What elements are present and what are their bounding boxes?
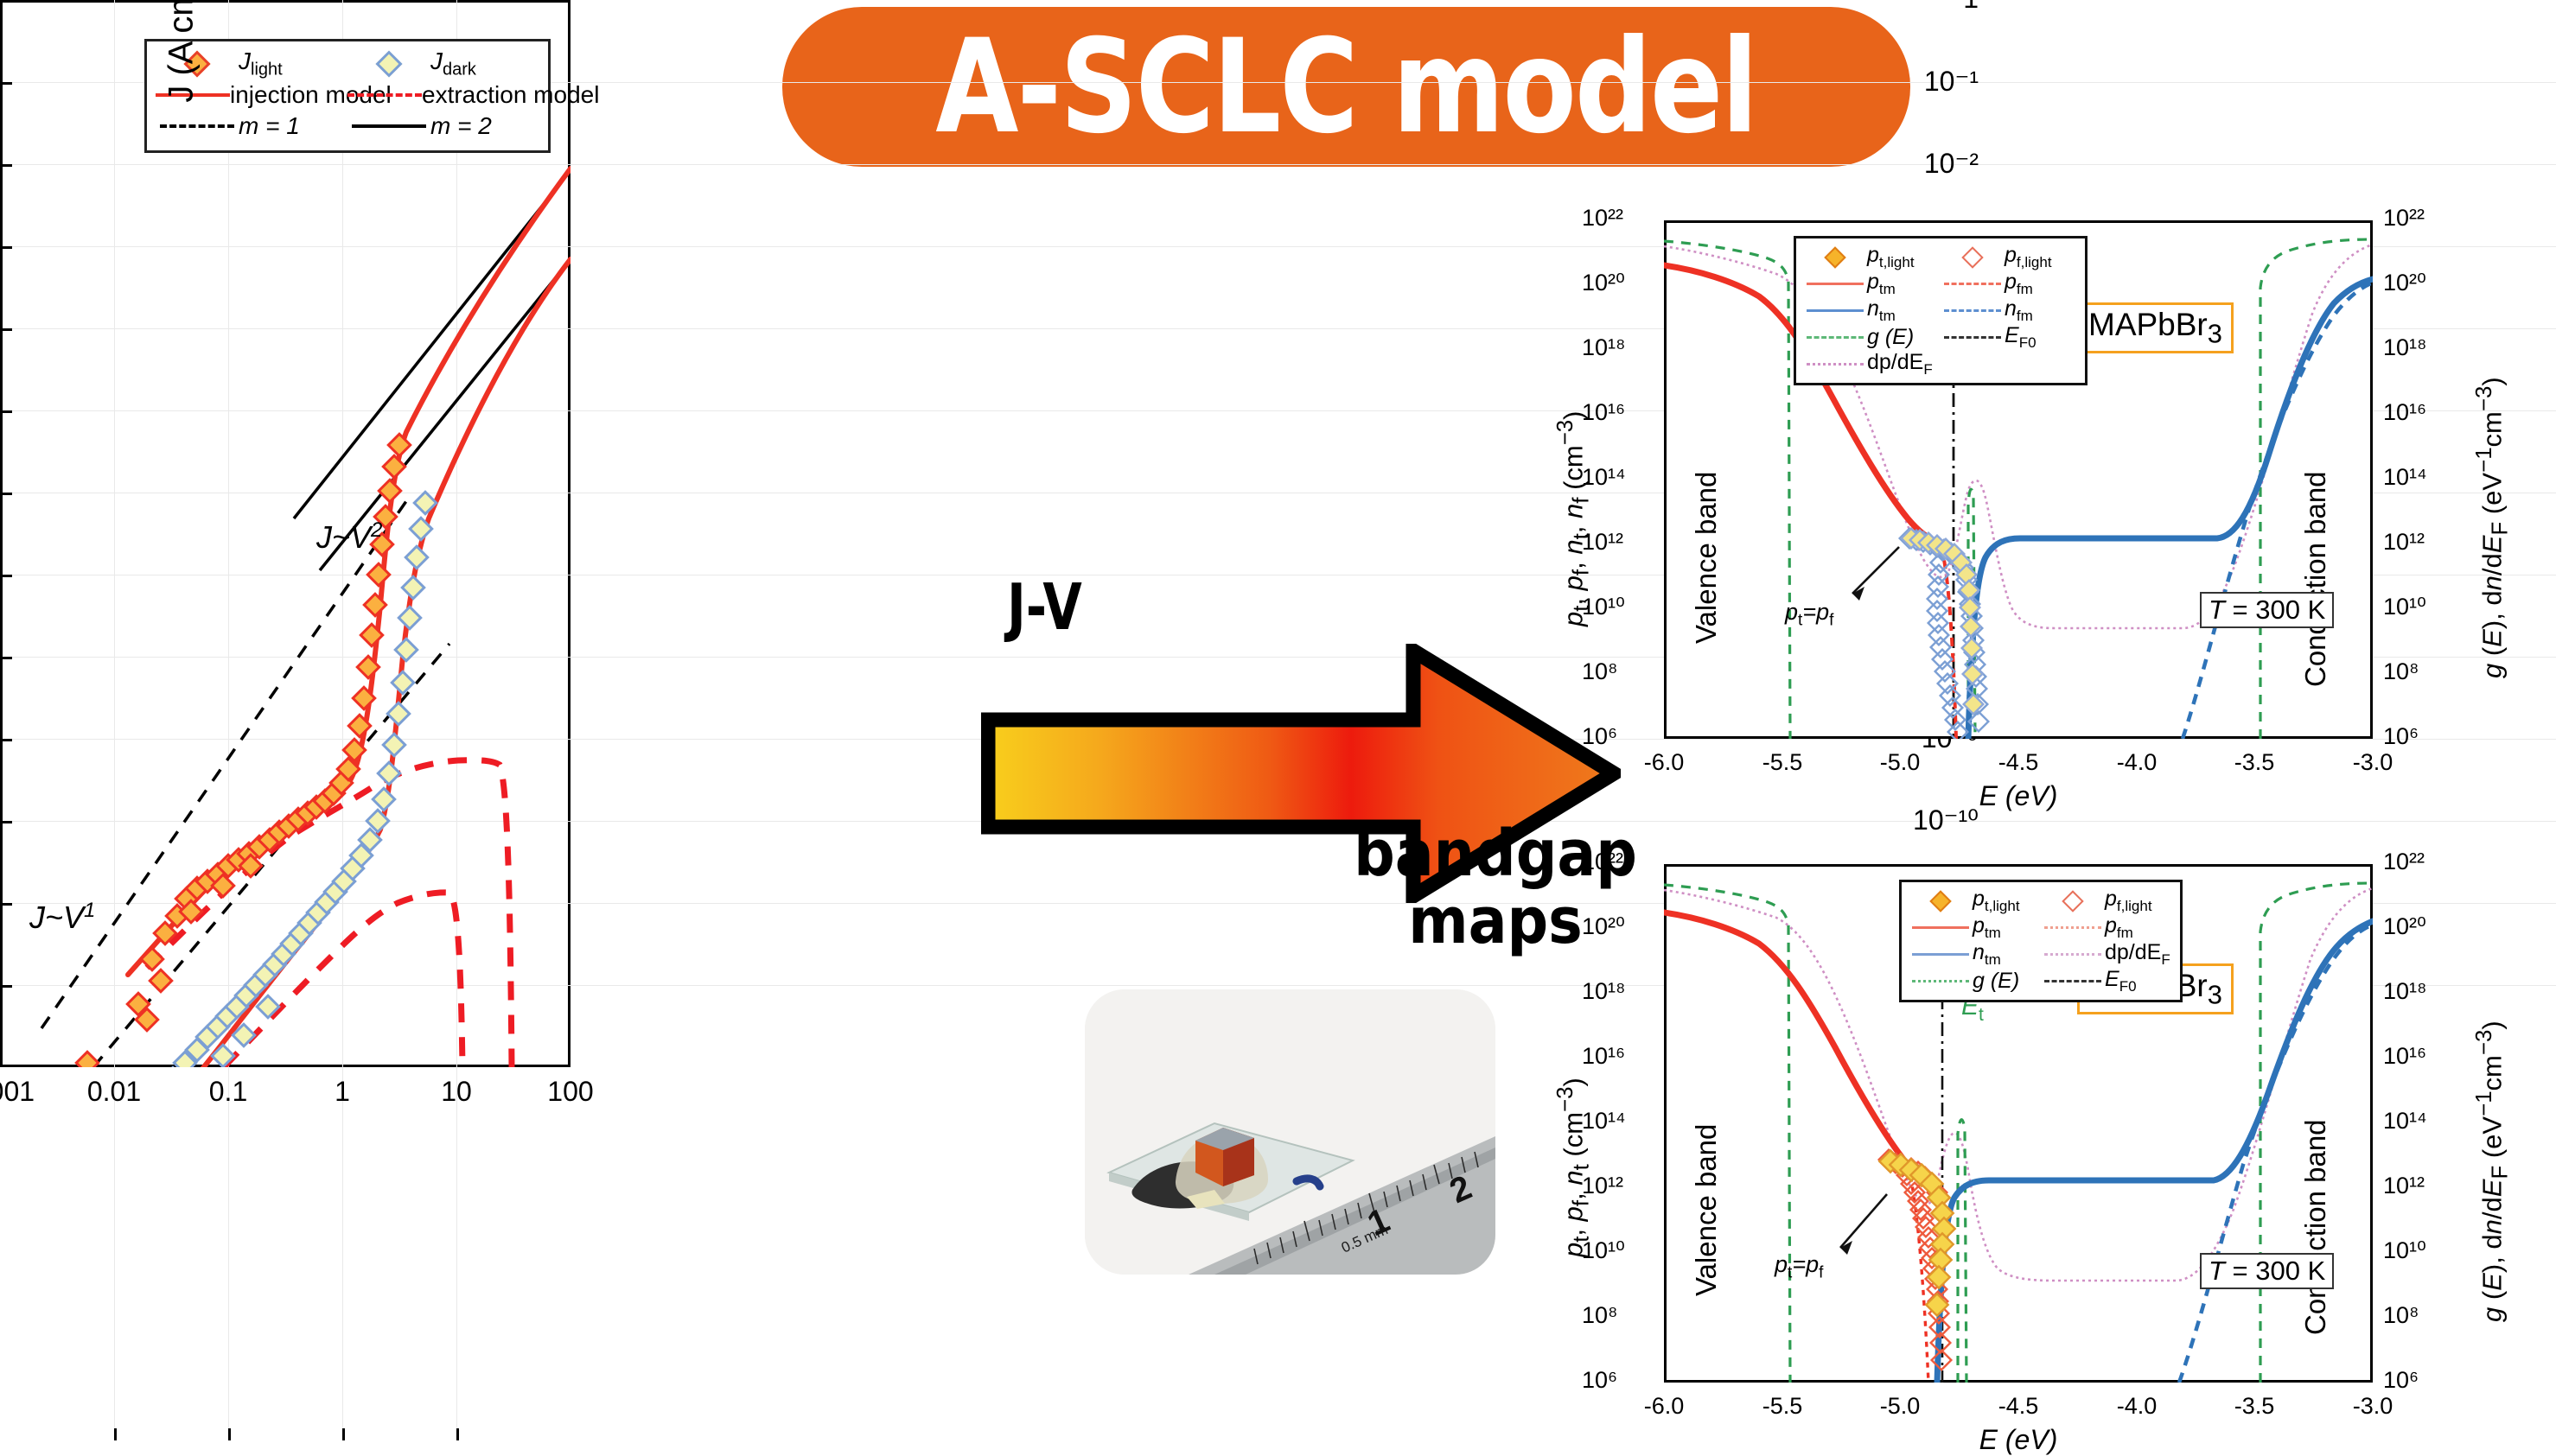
y-tick-left: 10⁶ [1582, 1367, 1617, 1394]
band-y-axis-label-left-bottom: pt, pf, nt (cm−3) [1553, 1078, 1595, 1257]
x-tick: -3.5 [2234, 749, 2275, 776]
y-tick-left: 10¹⁶ [1582, 1043, 1625, 1070]
conduction-band-label: Conduction band [2299, 471, 2332, 687]
y-tick-left: 10⁶ [1582, 723, 1617, 750]
y-tick-right: 10⁶ [2383, 723, 2419, 750]
x-tick: 0.01 [87, 1076, 141, 1108]
legend-label-m1: m = 1 [239, 112, 300, 140]
y-tick-right: 10⁸ [2383, 658, 2419, 685]
x-tick: -4.5 [1998, 749, 2039, 776]
pt-equals-pf-label-bottom: pt=pf [1775, 1251, 1823, 1282]
y-tick-right: 10¹⁶ [2383, 1043, 2426, 1070]
legend-line-ntm-b [1909, 953, 1973, 956]
band-top-legend: pt,light pf,light ptm pfm ntm nfm [1794, 236, 2088, 385]
jv-y-axis-label: J (A cm−2) [163, 0, 201, 201]
y-tick-right: 10²⁰ [2383, 270, 2426, 296]
x-tick: 0.1 [209, 1076, 247, 1108]
y-tick-right: 10¹² [2383, 1173, 2425, 1199]
legend-line-ge [1803, 336, 1867, 339]
band-x-axis-label: E (eV) [1664, 780, 2373, 812]
legend-label-jlight: Jlight [239, 48, 283, 80]
annotation-slope-2: J~V2 [316, 518, 382, 556]
x-tick: 100 [547, 1076, 593, 1108]
y-tick-right: 10¹⁴ [2383, 464, 2427, 491]
valence-band-label-bottom: Valence band [1690, 1124, 1723, 1296]
jv-legend: Jlight Jdark injection model extraction … [144, 39, 551, 153]
x-tick: -6.0 [1644, 749, 1685, 776]
y-tick-right: 10²² [2383, 849, 2425, 875]
y-tick: 10⁻² [1924, 147, 1979, 180]
x-tick: -4.0 [2117, 749, 2158, 776]
y-tick-right: 10¹⁸ [2383, 334, 2426, 361]
x-tick: -5.5 [1762, 1393, 1803, 1420]
y-tick-right: 10¹² [2383, 529, 2425, 556]
x-tick: 1 [335, 1076, 350, 1108]
x-tick: -3.5 [2234, 1393, 2275, 1420]
x-tick: -5.0 [1880, 749, 1921, 776]
y-tick-right: 10²² [2383, 205, 2425, 232]
temperature-label-top: T = 300 K [2200, 592, 2334, 628]
conduction-band-label-bottom: Conduction band [2299, 1119, 2332, 1335]
x-tick: -5.5 [1762, 749, 1803, 776]
y-tick-right: 10²⁰ [2383, 913, 2426, 940]
y-tick-left: 10¹⁸ [1582, 334, 1625, 361]
band-bottom-legend: pt,light pf,light ptm pfm ntm dp/dEF [1899, 880, 2183, 1002]
y-tick-left: 10¹⁸ [1582, 978, 1625, 1005]
y-tick-right: 10¹⁰ [2383, 1237, 2426, 1264]
legend-line-ef0 [1941, 336, 2005, 339]
y-tick-left: 10²⁰ [1582, 270, 1625, 296]
device-photo: 0.5 mm 1 2 [1085, 989, 1495, 1275]
y-tick-right: 10¹⁶ [2383, 399, 2426, 426]
legend-marker-pflight-b [2041, 893, 2105, 909]
pt-equals-pf-label: pt=pf [1785, 599, 1833, 630]
legend-line-ptm-b [1909, 926, 1973, 929]
y-tick-right: 10¹⁴ [2383, 1108, 2427, 1135]
y-tick-left: 10⁸ [1582, 1302, 1617, 1329]
legend-label-jdark: Jdark [430, 48, 476, 80]
legend-line-pfm-b [2041, 926, 2105, 929]
band-y-axis-label-left: pt, pf, nt, nf (cm−3) [1553, 411, 1595, 627]
legend-label-extraction: extraction model [422, 81, 599, 109]
legend-label-m2: m = 2 [430, 112, 492, 140]
y-tick-right: 10⁸ [2383, 1302, 2419, 1329]
legend-line-ef0-b [2041, 980, 2105, 982]
arrow-source-label: J-V [1007, 570, 1082, 645]
legend-line-ge-b [1909, 980, 1973, 982]
x-tick: 10 [441, 1076, 472, 1108]
y-tick-right: 10⁶ [2383, 1367, 2419, 1394]
jv-plot: J~V2 J~V1 Jlight Jdark injection model e… [0, 0, 570, 1067]
y-tick-left: 10⁸ [1582, 658, 1617, 685]
legend-marker-pflight [1941, 250, 2005, 265]
legend-line-nfm [1941, 309, 2005, 312]
legend-line-dpdef [1803, 363, 1867, 366]
band-y-axis-label-right: g (E), dn/dEF (eV−1cm−3) [2472, 377, 2514, 678]
legend-marker-ptlight [1803, 250, 1867, 265]
y-tick-left: 10²² [1582, 849, 1623, 875]
y-tick: 1 [1963, 0, 1979, 15]
y-tick: 10⁻¹ [1924, 65, 1979, 98]
bandgap-map-top: Valence band Conduction band EF0 Et pt=p… [1664, 220, 2373, 739]
valence-band-label: Valence band [1690, 472, 1723, 644]
band-y-axis-label-right-bottom: g (E), dn/dEF (eV−1cm−3) [2472, 1020, 2514, 1322]
y-tick-right: 10¹⁰ [2383, 594, 2426, 620]
y-tick-left: 10²² [1582, 205, 1623, 232]
legend-marker-ptlight-b [1909, 893, 1973, 909]
bandgap-map-bottom: Valence band Conduction band EF0 Et pt=p… [1664, 864, 2373, 1383]
x-tick: -5.0 [1880, 1393, 1921, 1420]
legend-line-dpdef-b [2041, 953, 2105, 956]
page-title: A-SCLC model [936, 22, 1757, 152]
title-banner: A-SCLC model [782, 7, 1910, 167]
material-label-top: MAPbBr3 [2077, 302, 2234, 353]
legend-line-ntm [1803, 309, 1867, 312]
legend-line-pfm [1941, 283, 2005, 285]
legend-line-ptm [1803, 283, 1867, 285]
legend-line-m2 [347, 124, 430, 128]
temperature-label-bottom: T = 300 K [2200, 1253, 2334, 1289]
x-tick: -6.0 [1644, 1393, 1685, 1420]
y-tick-right: 10¹⁸ [2383, 978, 2426, 1005]
legend-line-extraction [347, 93, 422, 97]
x-tick: -3.0 [2353, 1393, 2393, 1420]
legend-marker-jdark [347, 54, 430, 73]
x-tick: -4.0 [2117, 1393, 2158, 1420]
x-tick: 0.001 [0, 1076, 35, 1108]
x-tick: -3.0 [2353, 749, 2393, 776]
y-tick-left: 10²⁰ [1582, 913, 1625, 940]
annotation-slope-1: J~V1 [29, 899, 95, 936]
x-tick: -4.5 [1998, 1393, 2039, 1420]
